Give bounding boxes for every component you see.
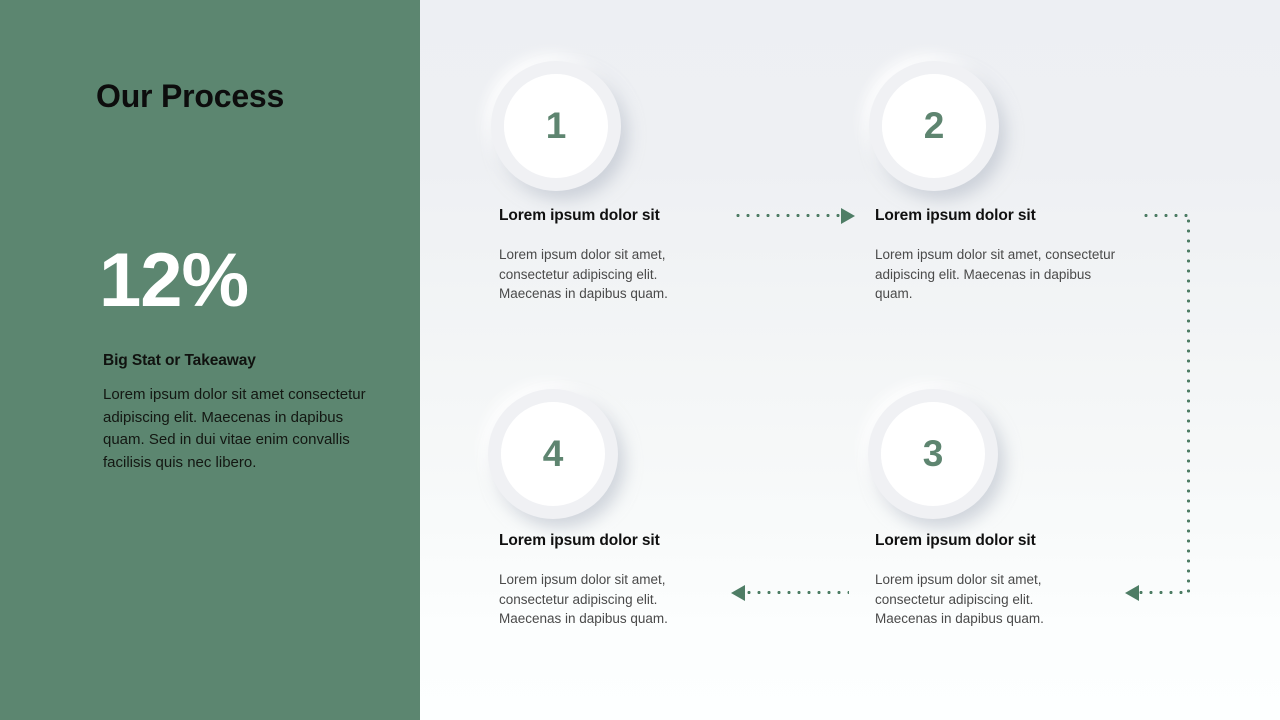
connector-2-to-3-arrow-icon	[1125, 585, 1139, 601]
step-circle-4-inner: 4	[501, 402, 605, 506]
process-panel: 1 Lorem ipsum dolor sit Lorem ipsum dolo…	[420, 0, 1280, 720]
step-number-3: 3	[923, 435, 944, 474]
step-circle-2-inner: 2	[882, 74, 986, 178]
step-circle-2[interactable]: 2	[869, 61, 999, 191]
page-title: Our Process	[96, 78, 284, 115]
step-body-3: Lorem ipsum dolor sit amet, consectetur …	[875, 570, 1090, 629]
step-number-1: 1	[546, 107, 567, 146]
step-circle-3[interactable]: 3	[868, 389, 998, 519]
step-heading-2: Lorem ipsum dolor sit	[875, 207, 1036, 225]
connector-3-to-4-line	[744, 591, 849, 594]
slide: Our Process 12% Big Stat or Takeaway Lor…	[0, 0, 1280, 720]
step-heading-4: Lorem ipsum dolor sit	[499, 532, 660, 550]
step-heading-3: Lorem ipsum dolor sit	[875, 532, 1036, 550]
step-number-4: 4	[543, 435, 564, 474]
step-body-1: Lorem ipsum dolor sit amet, consectetur …	[499, 245, 714, 304]
connector-2-to-3-line-top	[1141, 214, 1190, 217]
big-stat-value: 12%	[99, 243, 248, 319]
step-circle-1[interactable]: 1	[491, 61, 621, 191]
connector-1-to-2-arrow-icon	[841, 208, 855, 224]
step-number-2: 2	[924, 107, 945, 146]
connector-1-to-2-line	[733, 214, 844, 217]
sidebar-panel: Our Process 12% Big Stat or Takeaway Lor…	[0, 0, 420, 720]
step-body-4: Lorem ipsum dolor sit amet, consectetur …	[499, 570, 714, 629]
step-circle-4[interactable]: 4	[488, 389, 618, 519]
step-heading-1: Lorem ipsum dolor sit	[499, 207, 660, 225]
step-body-2: Lorem ipsum dolor sit amet, consectetur …	[875, 245, 1127, 304]
connector-3-to-4-arrow-icon	[731, 585, 745, 601]
big-stat-label: Big Stat or Takeaway	[103, 352, 256, 370]
connector-2-to-3-line-bottom	[1136, 591, 1189, 594]
connector-2-to-3-line-right	[1187, 216, 1190, 596]
step-circle-1-inner: 1	[504, 74, 608, 178]
big-stat-description: Lorem ipsum dolor sit amet consectetur a…	[103, 384, 371, 474]
step-circle-3-inner: 3	[881, 402, 985, 506]
